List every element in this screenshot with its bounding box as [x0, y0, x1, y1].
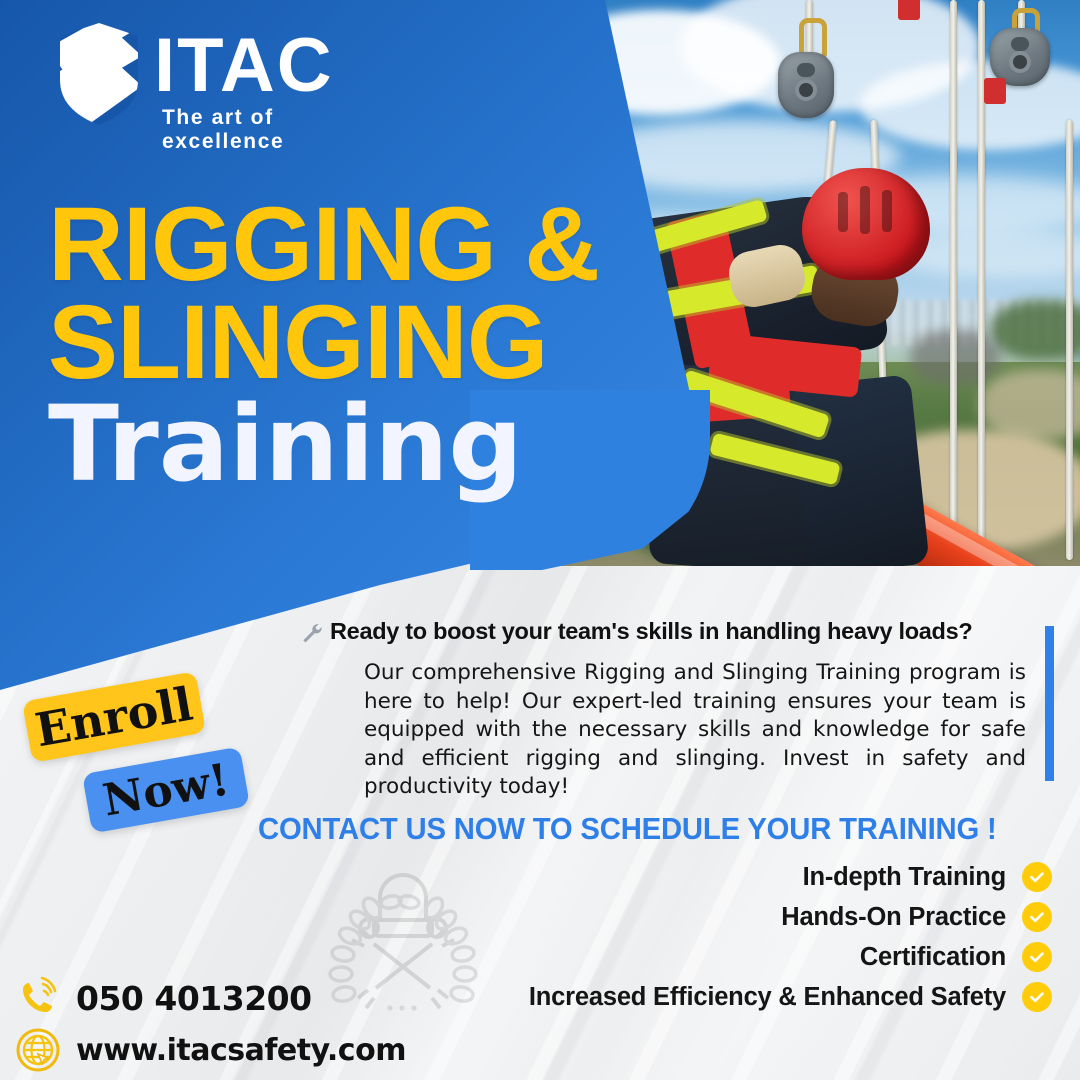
check-circle-icon [1022, 982, 1052, 1012]
phone-number: 050 4013200 [76, 979, 312, 1018]
check-circle-icon [1022, 942, 1052, 972]
list-item: Hands-On Practice [432, 902, 1052, 932]
feature-label: Hands-On Practice [781, 903, 1006, 932]
globe-icon [16, 1028, 60, 1072]
list-item: Increased Efficiency & Enhanced Safety [432, 982, 1052, 1012]
rope-tag [984, 78, 1006, 104]
safety-helmet [802, 168, 930, 280]
website-url: www.itacsafety.com [76, 1033, 406, 1068]
check-circle-icon [1022, 902, 1052, 932]
feature-list: In-depth Training Hands-On Practice Cert… [432, 862, 1052, 1012]
question-text: Ready to boost your team's skills in han… [330, 618, 972, 645]
phone-icon [16, 976, 60, 1020]
shield-icon [58, 22, 140, 126]
pulley [778, 52, 834, 118]
brand-logo: ITAC The art of excellence [58, 22, 388, 142]
headline-line-3: Training [48, 391, 688, 497]
wrench-icon [300, 620, 322, 644]
feature-label: Certification [860, 943, 1006, 972]
headline: RIGGING & SLINGING Training [48, 196, 688, 497]
headline-line-1: RIGGING & [48, 196, 688, 294]
poster-canvas: ITAC The art of excellence RIGGING & SLI… [0, 0, 1080, 1080]
feature-label: In-depth Training [803, 863, 1006, 892]
contact-website-row[interactable]: www.itacsafety.com [16, 1024, 436, 1076]
accent-bar [1045, 626, 1054, 781]
list-item: In-depth Training [432, 862, 1052, 892]
question-headline: Ready to boost your team's skills in han… [300, 618, 1054, 645]
contact-block: 050 4013200 www.itacsafety.com [16, 972, 436, 1076]
logo-tagline: The art of excellence [162, 106, 388, 154]
rope-tag [898, 0, 920, 20]
cta-text: CONTACT US NOW TO SCHEDULE YOUR TRAINING… [258, 812, 1026, 847]
headline-line-2: SLINGING [48, 294, 688, 392]
feature-label: Increased Efficiency & Enhanced Safety [529, 983, 1006, 1012]
rope [950, 0, 957, 560]
rope [1066, 120, 1073, 560]
logo-wordmark: ITAC [154, 28, 334, 104]
body-copy: Our comprehensive Rigging and Slinging T… [364, 659, 1026, 802]
contact-phone-row[interactable]: 050 4013200 [16, 972, 436, 1024]
check-circle-icon [1022, 862, 1052, 892]
list-item: Certification [432, 942, 1052, 972]
content-block: Ready to boost your team's skills in han… [298, 618, 1054, 802]
